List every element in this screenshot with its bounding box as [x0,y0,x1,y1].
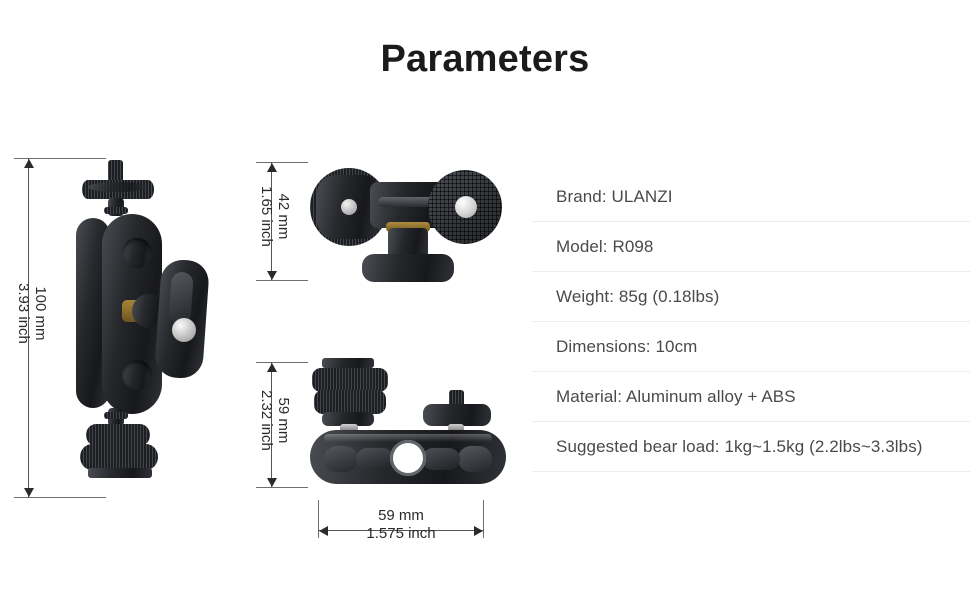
top-view-right-disc-hole [455,196,477,218]
side-view-center-hole [390,440,426,476]
dim-extension-line-42-bottom [256,280,308,281]
dim-label-100mm-inch: 3.93 inch [15,283,32,344]
dim-extension-line-42-top [256,162,308,163]
lower-stem-collar [104,412,128,419]
side-view-right-wing-slot [422,448,460,470]
dim-extension-line-59h-right [483,500,484,538]
lower-pivot-boss [122,360,152,390]
spec-model: Model: R098 [556,237,654,257]
top-view-bottom-knob [362,254,454,282]
table-row: Dimensions: 10cm [532,322,970,372]
side-view-left-wing-slot [356,448,394,470]
spec-brand: Brand: ULANZI [556,187,673,207]
table-row: Suggested bear load: 1kg~1.5kg (2.2lbs~3… [532,422,970,472]
upper-stem-collar [104,207,128,214]
spec-dimensions: Dimensions: 10cm [556,337,697,357]
specification-table: Brand: ULANZI Model: R098 Weight: 85g (0… [532,172,970,472]
side-view-cold-shoe-ring-b [314,390,386,414]
spec-weight: Weight: 85g (0.18lbs) [556,287,719,307]
dim-extension-line-59v-bottom [256,487,308,488]
side-view-cold-shoe-top-plate [322,358,374,368]
dim-label-59mm-h-inch: 1.575 inch [366,525,435,542]
dim-label-59mm-horizontal: 59 mm 1.575 inch [340,507,462,543]
top-screw-thread [108,160,123,182]
cold-shoe-foot-plate [88,468,152,478]
dim-arrow-down-100mm [24,488,34,497]
side-view-right-disc [423,404,491,426]
product-image-top-view [310,160,510,285]
dim-label-59mm-v-inch: 2.32 inch [258,390,275,451]
dim-label-100mm: 100 mm 3.93 inch [15,283,49,344]
dim-arrow-right-59mm [474,526,483,536]
dim-label-59mm-v-mm: 59 mm [275,398,292,444]
dim-label-42mm-inch: 1.65 inch [258,186,275,247]
product-image-front-view [66,160,226,500]
dim-arrow-up-59mm [267,363,277,372]
table-row: Brand: ULANZI [532,172,970,222]
side-view-left-eyelet [324,446,358,472]
dim-arrow-down-59mm [267,478,277,487]
table-row: Model: R098 [532,222,970,272]
upper-pivot-boss [122,238,152,268]
side-view-cold-shoe-ring-a [312,368,388,392]
dim-label-59mm-vertical: 59 mm 2.32 inch [258,390,292,451]
product-image-side-view [310,358,510,488]
top-disc-face [88,182,148,192]
spec-material: Material: Aluminum alloy + ABS [556,387,796,407]
dim-arrow-up-100mm [24,159,34,168]
dim-extension-line-59v-top [256,362,308,363]
cold-shoe-upper-ring [86,424,150,446]
dim-label-42mm-mm: 42 mm [275,194,292,240]
dim-arrow-left-59mm [319,526,328,536]
table-row: Material: Aluminum alloy + ABS [532,372,970,422]
dim-arrow-up-42mm [267,163,277,172]
dim-label-100mm-mm: 100 mm [32,286,49,340]
table-row: Weight: 85g (0.18lbs) [532,272,970,322]
dim-label-42mm: 42 mm 1.65 inch [258,186,292,247]
t-knob-center-cap [172,318,196,342]
cold-shoe-lower-ring [80,444,158,470]
side-view-right-eyelet [458,446,492,472]
t-knob-highlight [168,271,194,324]
top-view-left-disc-pin [341,199,357,215]
page-title: Parameters [0,38,970,81]
dim-label-59mm-h-mm: 59 mm [378,507,424,524]
dim-arrow-down-42mm [267,271,277,280]
spec-bear-load: Suggested bear load: 1kg~1.5kg (2.2lbs~3… [556,437,923,457]
